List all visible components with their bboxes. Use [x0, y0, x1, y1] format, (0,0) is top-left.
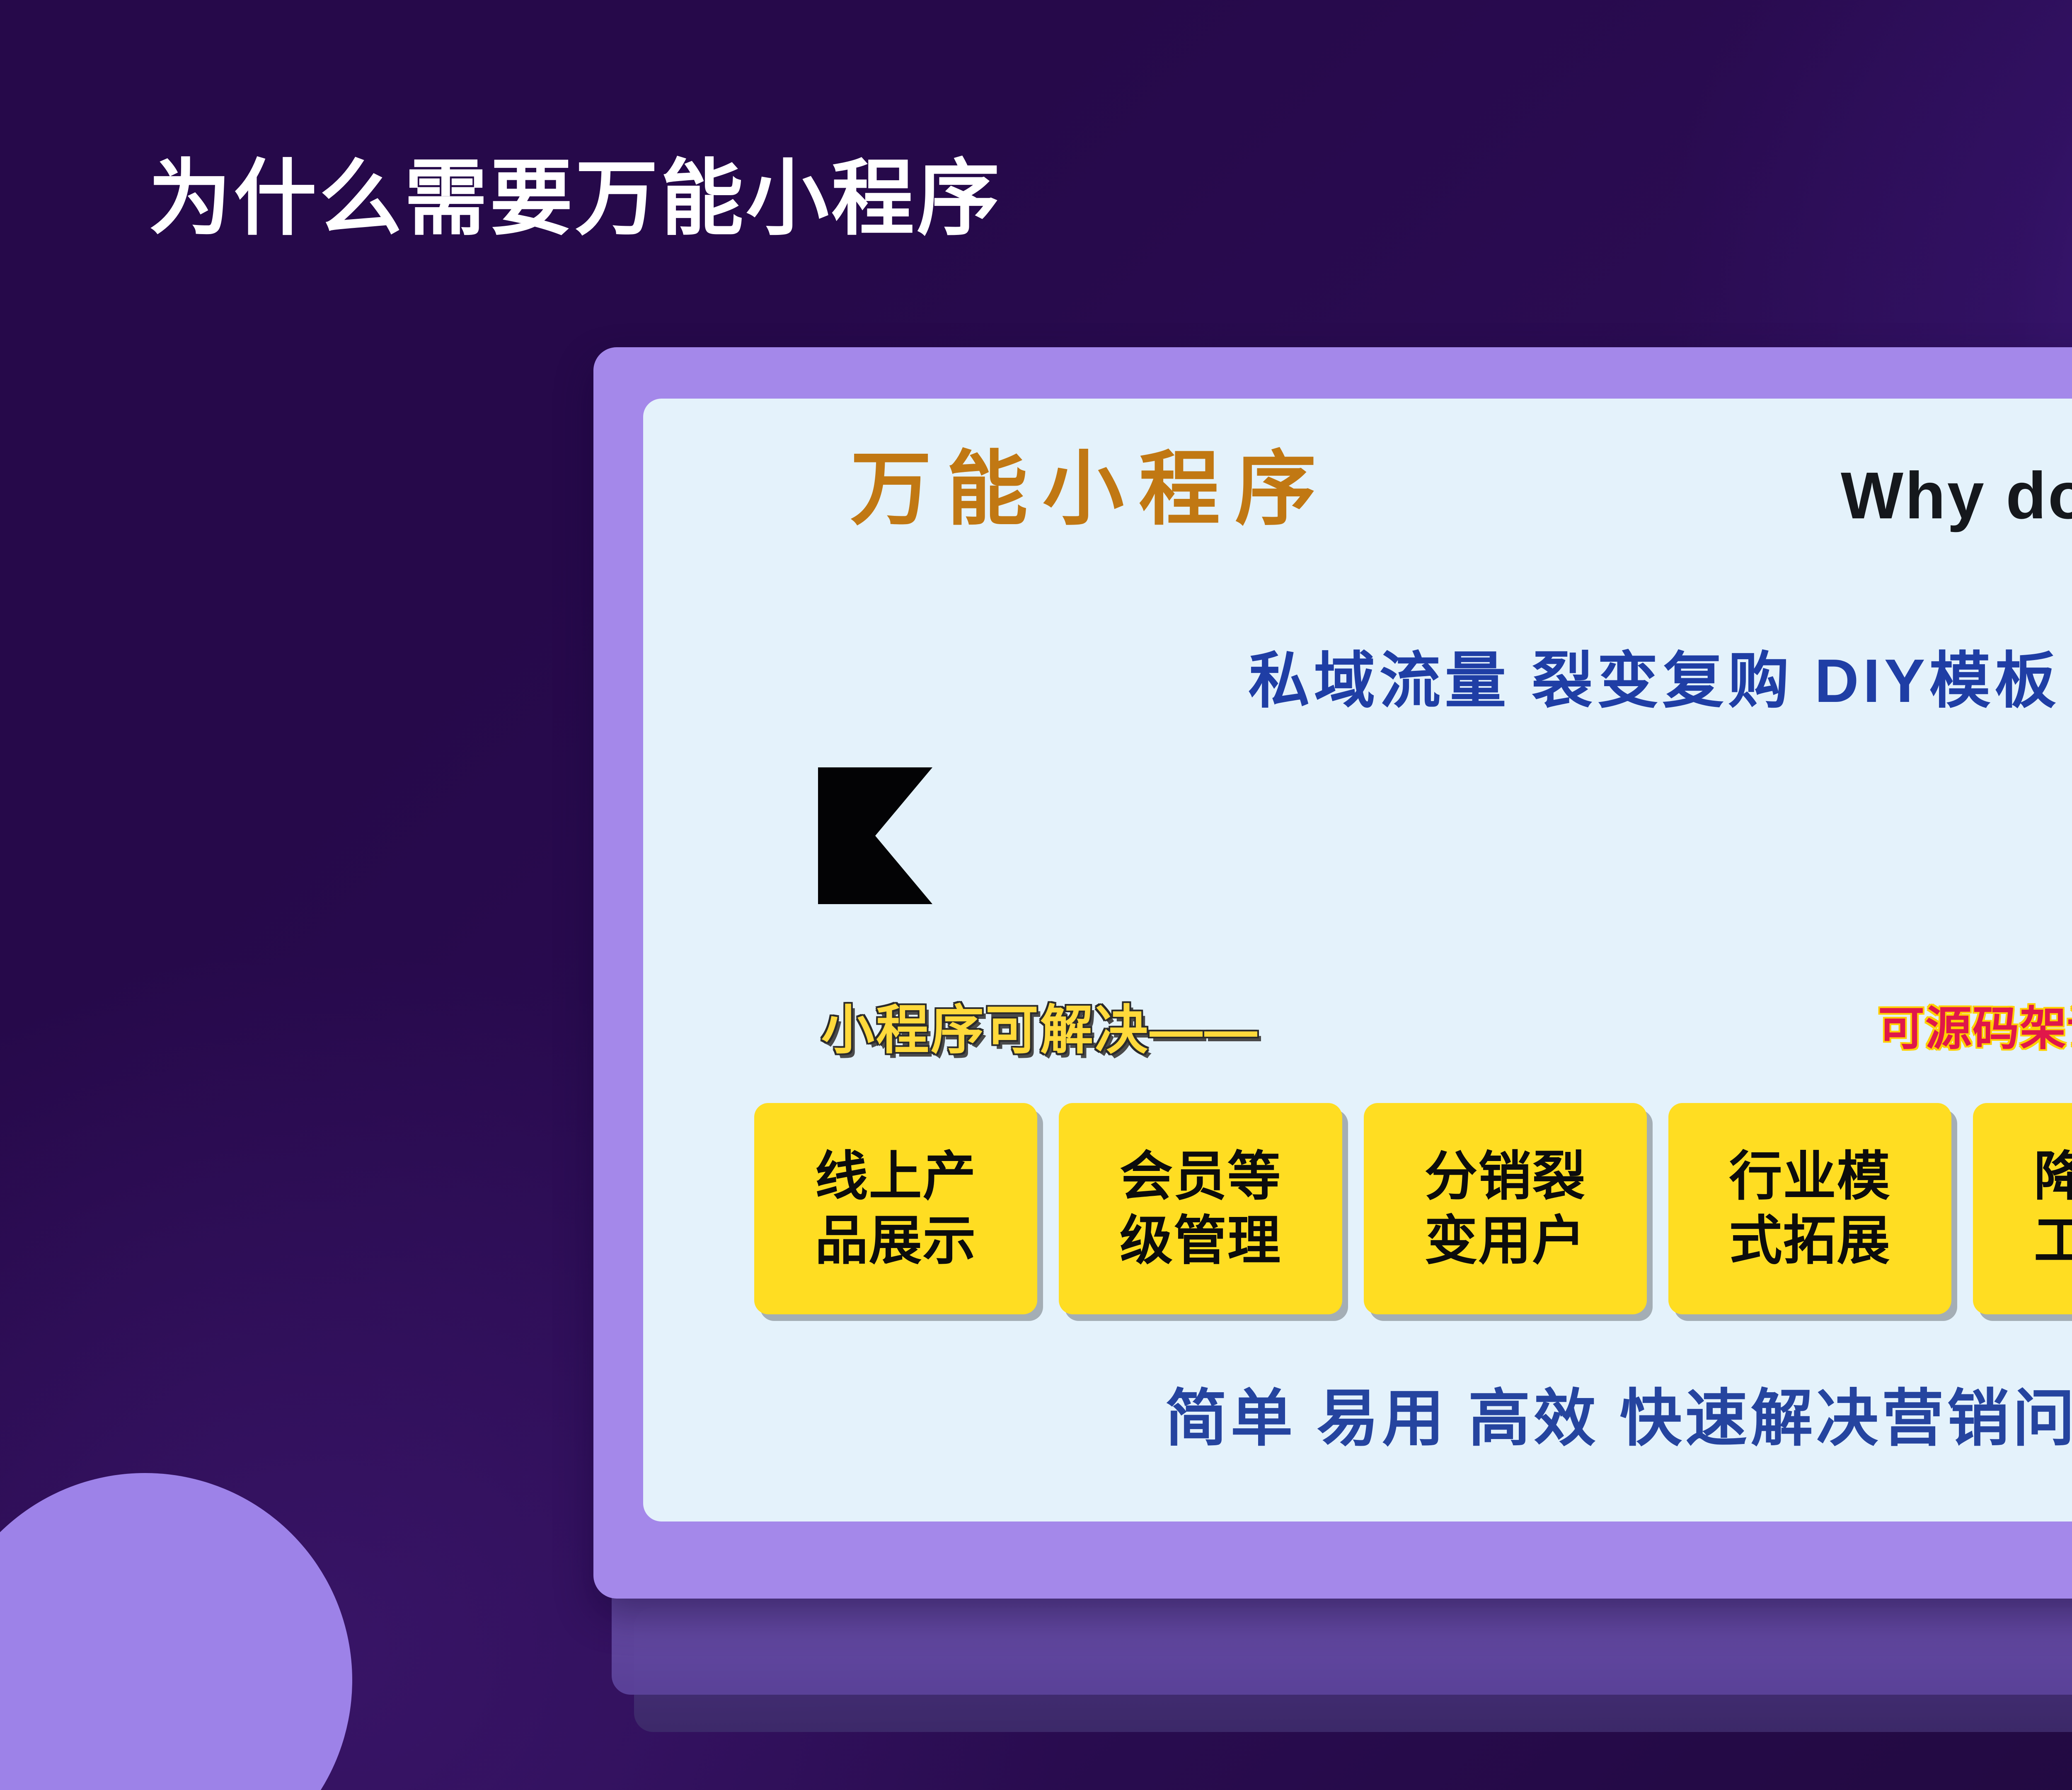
solve-label: 小程序可解决—— [821, 987, 1259, 1064]
feature-tile-2[interactable]: 会员等 级管理 [1059, 1103, 1342, 1314]
footer-slogan: 简单 易用 高效 快速解决营销问题 [643, 1368, 2072, 1458]
slide-canvas: 为什么需要万能小程序 [0, 0, 2072, 1790]
feature-card-frame: 万能小程序 Why do it ? 私域流量 裂变复购 DIY模板 全体系线上新… [593, 347, 2072, 1599]
feature-tile-3-line1: 分销裂 [1424, 1147, 1586, 1206]
feature-tile-list: 线上产 品展示 会员等 级管理 分销裂 变用户 行业模 式拓展 降低人 工成 [754, 1103, 2072, 1314]
feature-tile-4-line1: 行业模 [1729, 1147, 1891, 1206]
feature-tile-4-line2: 式拓展 [1729, 1211, 1891, 1270]
feature-tile-5[interactable]: 降低人 工成本 [1973, 1103, 2072, 1314]
keyword-list: 私域流量 裂变复购 DIY模板 [643, 631, 2072, 720]
headline-row: 万能小程序 Why do it ? [643, 447, 2072, 571]
feature-tile-1[interactable]: 线上产 品展示 [754, 1103, 1037, 1314]
decorative-purple-circle [0, 1473, 352, 1790]
ribbon-banner: 全体系线上新零售商业模式玩法 [818, 767, 2072, 904]
why-headline: Why do it ? [1841, 461, 2072, 530]
page-title: 为什么需要万能小程序 [148, 157, 1002, 240]
feature-tile-3-line2: 变用户 [1424, 1211, 1586, 1270]
feature-tile-2-line2: 级管理 [1120, 1211, 1281, 1270]
feature-tile-3[interactable]: 分销裂 变用户 [1364, 1103, 1647, 1314]
feature-card-panel: 万能小程序 Why do it ? 私域流量 裂变复购 DIY模板 全体系线上新… [643, 399, 2072, 1521]
feature-tile-4[interactable]: 行业模 式拓展 [1668, 1103, 1951, 1314]
feature-tile-5-line1: 降低人 [2034, 1147, 2072, 1206]
brand-headline: 万能小程序 [850, 447, 1331, 532]
feature-tile-5-line2: 工成本 [2034, 1211, 2072, 1270]
feature-tile-2-line1: 会员等 [1120, 1147, 1281, 1206]
feature-tile-1-line2: 品展示 [815, 1211, 977, 1270]
server-note-badge: 可源码架设独立服务器 [1878, 991, 2072, 1058]
ribbon-banner-text: 全体系线上新零售商业模式玩法 [1184, 789, 2072, 883]
feature-tile-1-line1: 线上产 [815, 1147, 977, 1206]
